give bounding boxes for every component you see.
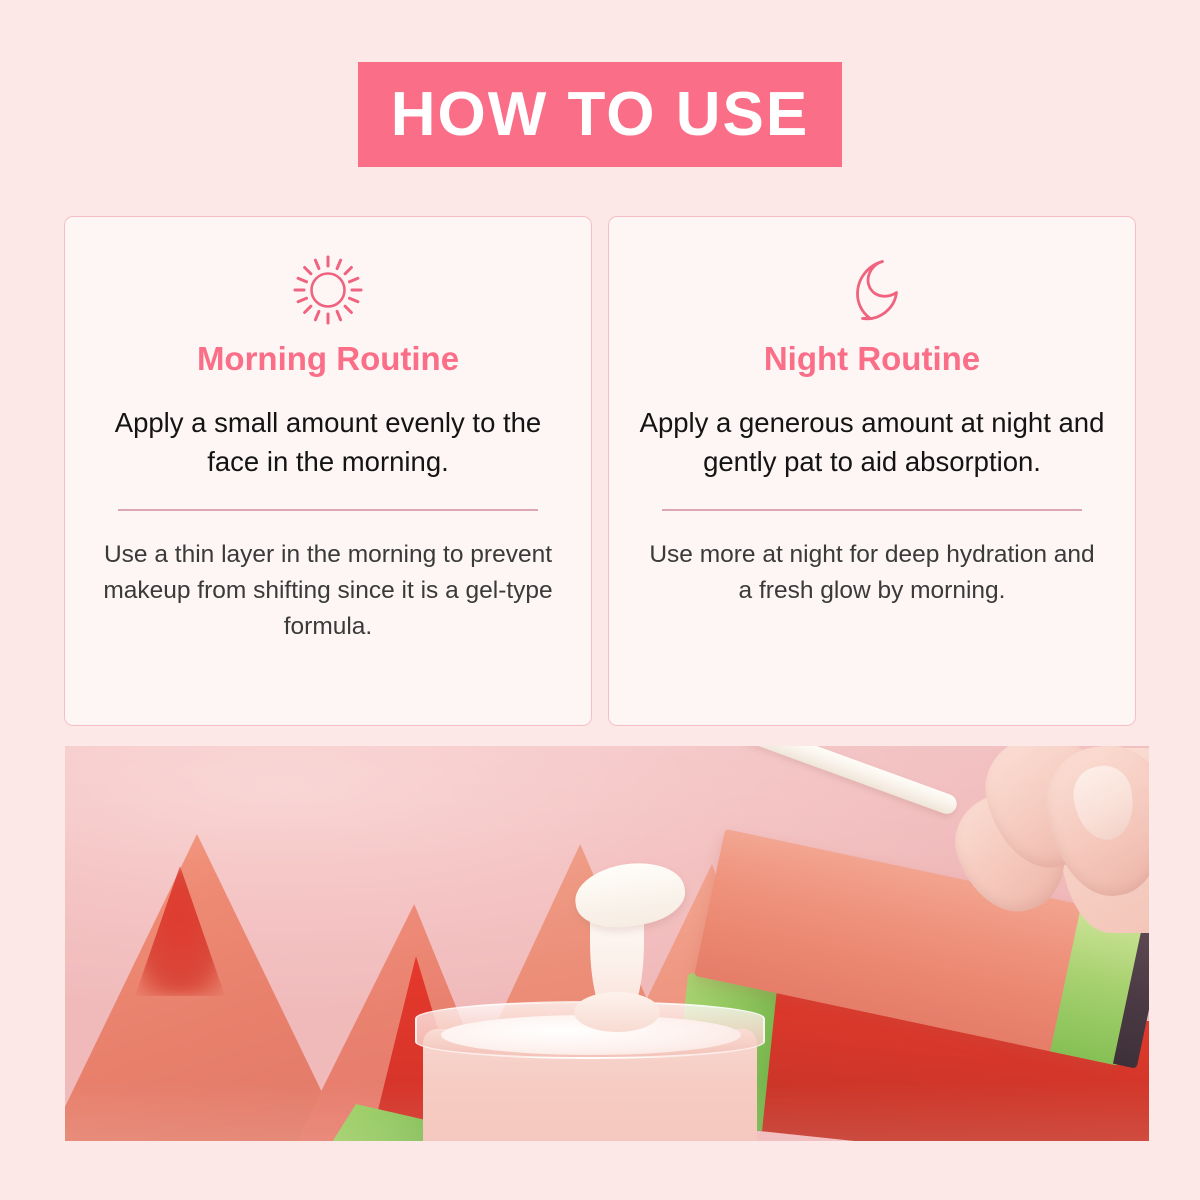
night-routine-card: Night Routine Apply a generous amount at… — [608, 216, 1136, 726]
night-card-divider — [662, 509, 1082, 511]
photo-background — [65, 746, 1149, 1141]
morning-routine-card: Morning Routine Apply a small amount eve… — [64, 216, 592, 726]
morning-card-divider — [118, 509, 538, 511]
header-banner: HOW TO USE — [358, 62, 842, 167]
product-usage-photo — [65, 746, 1149, 1141]
spatula-handle — [737, 746, 960, 817]
sun-icon — [291, 253, 365, 327]
night-routine-title: Night Routine — [764, 341, 980, 377]
page-title: HOW TO USE — [391, 84, 809, 146]
morning-routine-sub-text: Use a thin layer in the morning to preve… — [103, 537, 553, 645]
moon-icon — [835, 253, 909, 327]
hand — [929, 746, 1149, 940]
how-to-use-page: HOW TO USE — [0, 0, 1200, 1200]
morning-routine-main-text: Apply a small amount evenly to the face … — [93, 403, 563, 481]
night-routine-main-text: Apply a generous amount at night and gen… — [637, 403, 1107, 481]
night-routine-sub-text: Use more at night for deep hydration and… — [647, 537, 1097, 609]
routine-cards-row: Morning Routine Apply a small amount eve… — [64, 216, 1136, 726]
morning-routine-title: Morning Routine — [197, 341, 459, 377]
